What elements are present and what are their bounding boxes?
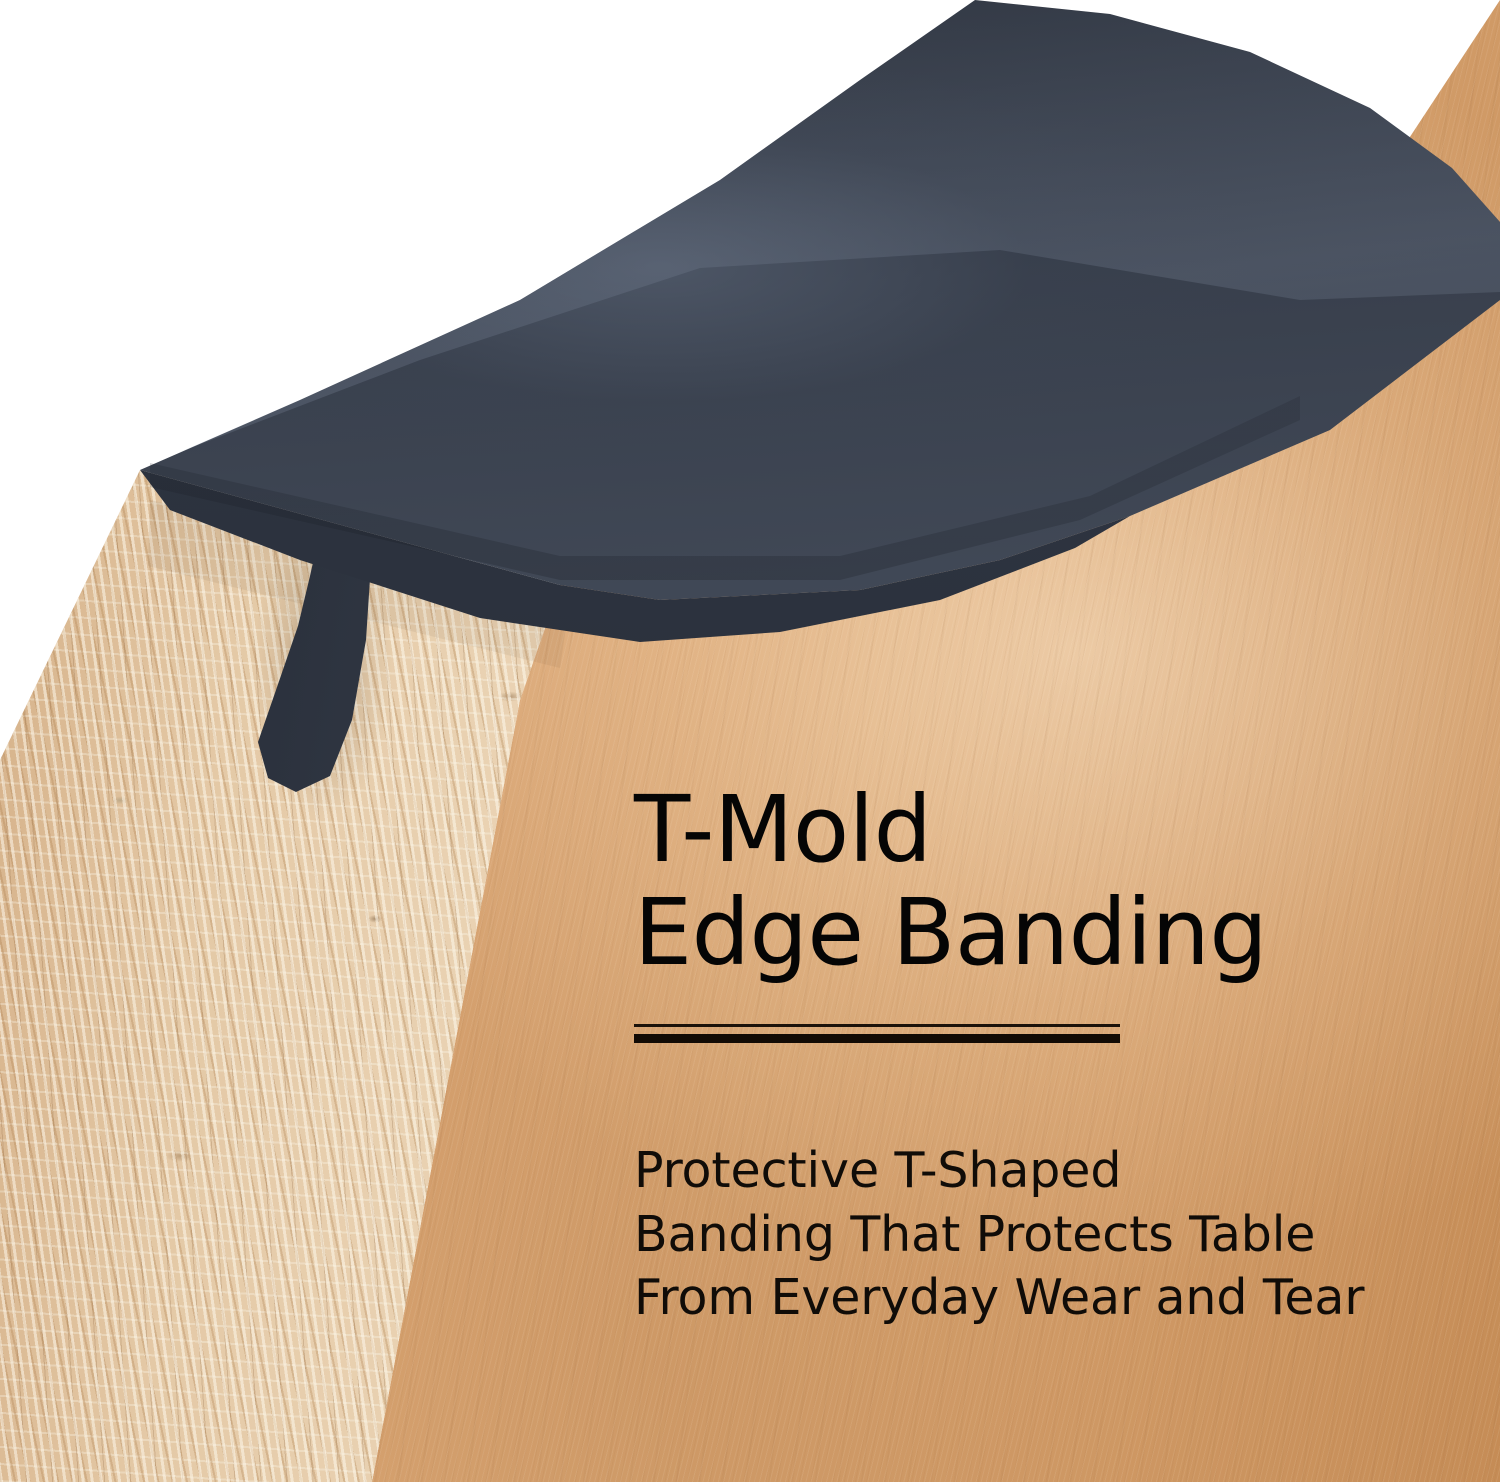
subhead: Protective T-Shaped Banding That Protect…: [634, 1139, 1394, 1330]
product-feature-image: T-Mold Edge Banding Protective T-Shaped …: [0, 0, 1500, 1482]
double-rule-divider: [634, 1024, 1120, 1043]
divider-rule-gap: [634, 1027, 1120, 1034]
headline: T-Mold Edge Banding: [634, 778, 1394, 984]
divider-rule-thick: [634, 1034, 1120, 1043]
copy-block: T-Mold Edge Banding Protective T-Shaped …: [634, 778, 1394, 1330]
